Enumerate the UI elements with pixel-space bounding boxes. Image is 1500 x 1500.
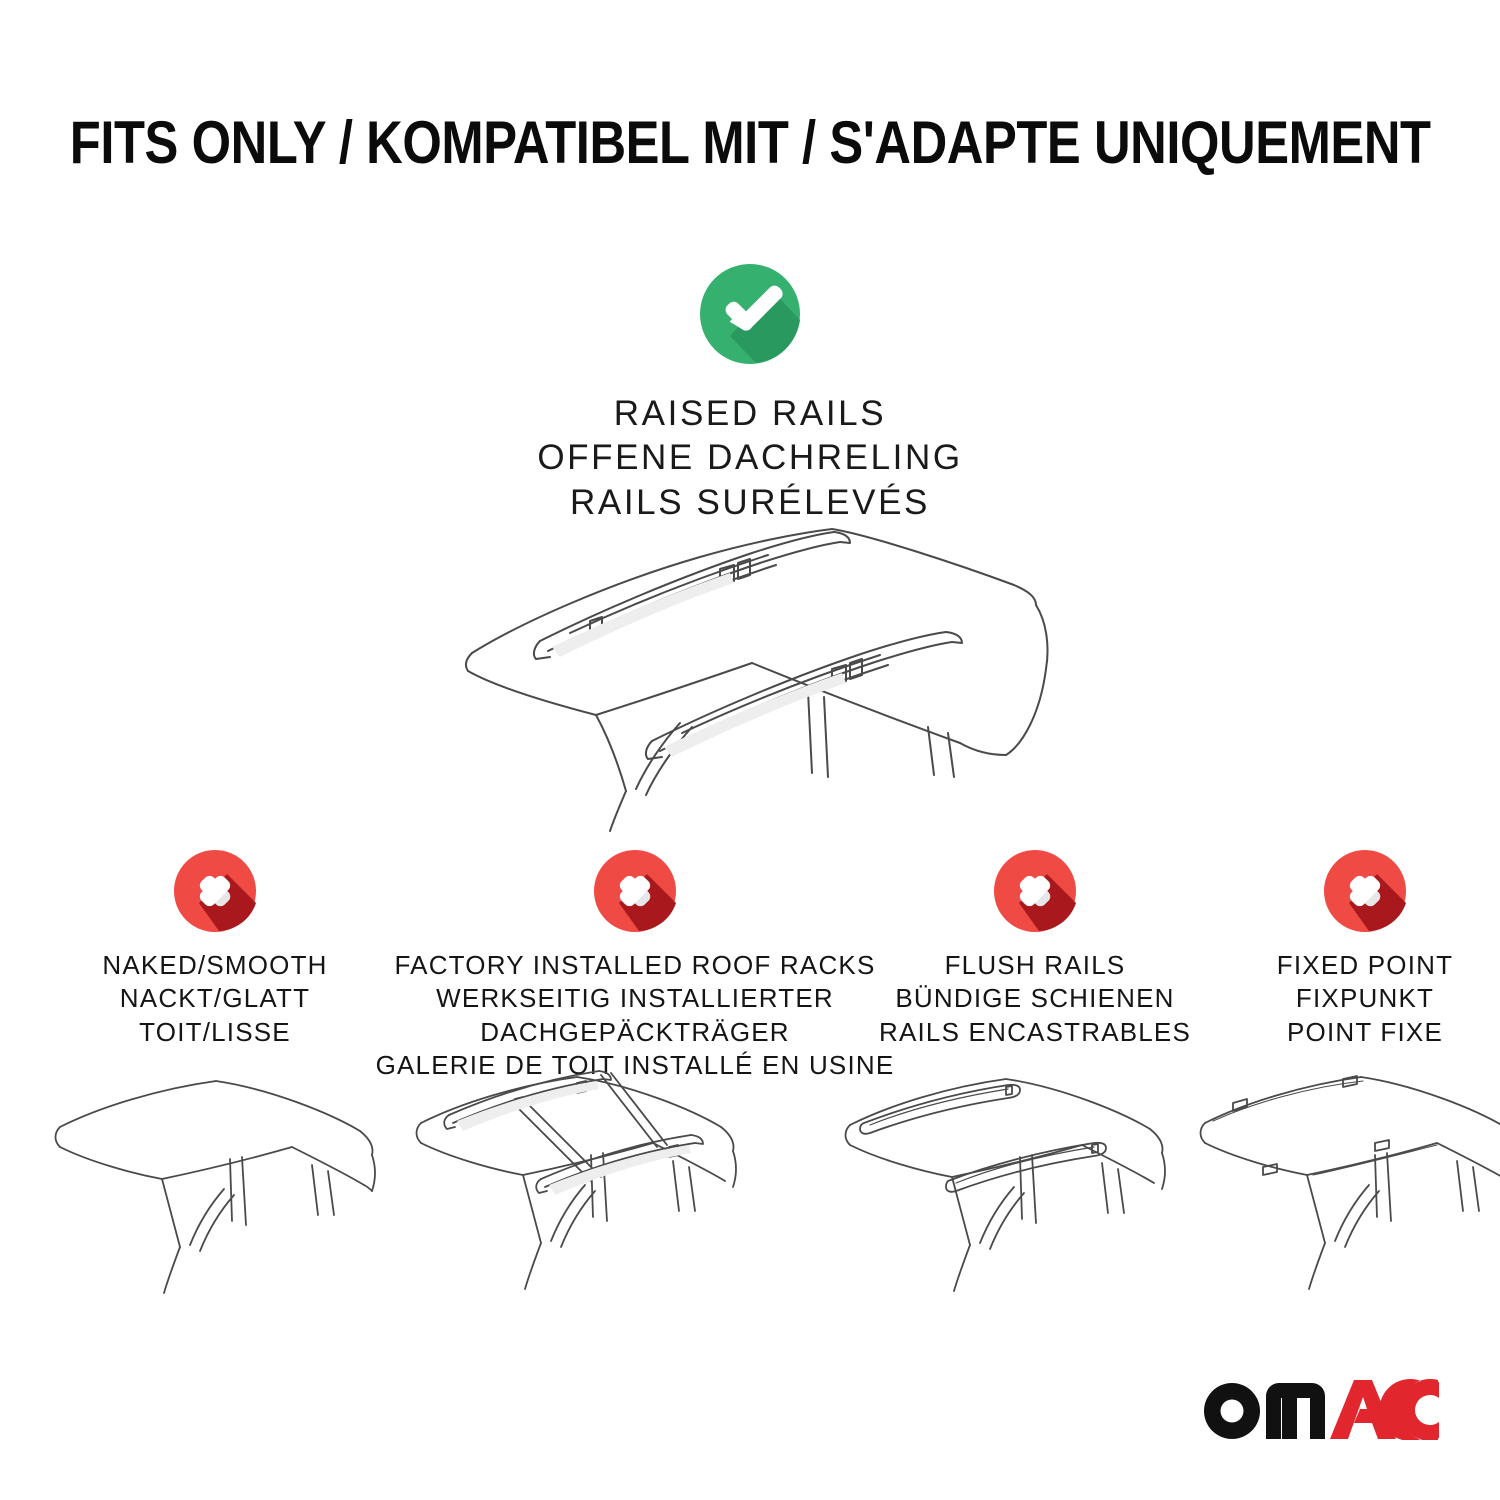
fits-section: RAISED RAILS OFFENE DACHRELING RAILS SUR… — [0, 258, 1500, 525]
logo-letter-m — [1266, 1383, 1325, 1439]
excluded-label-line: WERKSEITIG INSTALLIERTER — [376, 982, 895, 1015]
logo-letter-C — [1379, 1379, 1439, 1440]
red-cross-circle-icon — [169, 845, 261, 937]
excluded-label-line: POINT FIXE — [1277, 1016, 1453, 1049]
omac-logo — [1200, 1378, 1440, 1448]
red-cross-circle-icon — [989, 845, 1081, 937]
excluded-label-group: FIXED POINT FIXPUNKT POINT FIXE — [1277, 949, 1453, 1049]
red-cross-circle-icon — [589, 845, 681, 937]
logo-letter-o — [1204, 1383, 1260, 1439]
excluded-label-line: TOIT/LISSE — [102, 1016, 327, 1049]
red-cross-circle-icon — [1319, 845, 1411, 937]
car-roof-naked-smooth-illustration — [40, 1055, 400, 1305]
excluded-label-line: NACKT/GLATT — [102, 982, 327, 1015]
excluded-label-line: FLUSH RAILS — [879, 949, 1191, 982]
excluded-label-line: BÜNDIGE SCHIENEN — [879, 982, 1191, 1015]
fits-label-en: RAISED RAILS — [537, 392, 962, 436]
car-roof-raised-rails-illustration — [400, 505, 1100, 835]
excluded-label-line: NAKED/SMOOTH — [102, 949, 327, 982]
page-title-bar: FITS ONLY / KOMPATIBEL MIT / S'ADAPTE UN… — [0, 104, 1500, 182]
excluded-label-line: FACTORY INSTALLED ROOF RACKS — [376, 949, 895, 982]
car-roof-fixed-point-illustration — [1185, 1055, 1500, 1305]
excluded-label-line: DACHGEPÄCKTRÄGER — [376, 1016, 895, 1049]
fits-label-de: OFFENE DACHRELING — [537, 436, 962, 480]
page-title: FITS ONLY / KOMPATIBEL MIT / S'ADAPTE UN… — [70, 113, 1431, 173]
green-check-circle-icon — [694, 258, 806, 370]
excluded-label-line: FIXPUNKT — [1277, 982, 1453, 1015]
car-roof-flush-rails-illustration — [830, 1055, 1190, 1305]
excluded-label-group: NAKED/SMOOTH NACKT/GLATT TOIT/LISSE — [102, 949, 327, 1049]
excluded-label-line: RAILS ENCASTRABLES — [879, 1016, 1191, 1049]
car-roof-factory-racks-illustration — [405, 1055, 765, 1305]
excluded-label-group: FLUSH RAILS BÜNDIGE SCHIENEN RAILS ENCAS… — [879, 949, 1191, 1049]
excluded-label-line: FIXED POINT — [1277, 949, 1453, 982]
excluded-illustration-row — [0, 1055, 1500, 1305]
